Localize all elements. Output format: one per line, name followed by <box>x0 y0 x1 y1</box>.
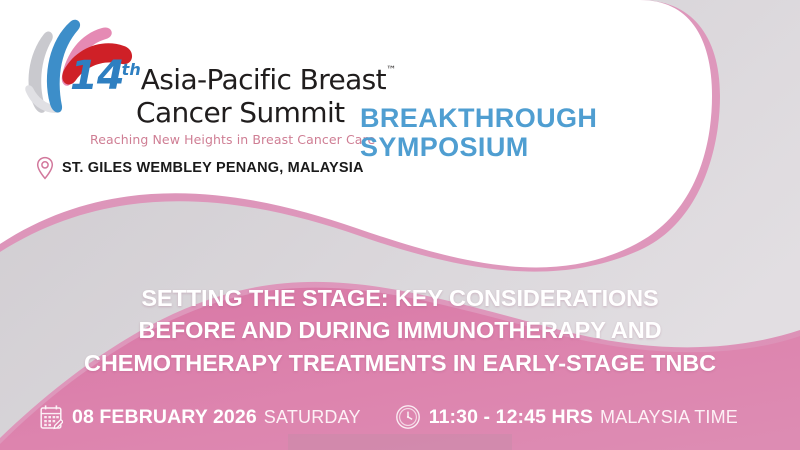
session-title-line-2: BEFORE AND DURING IMMUNOTHERAPY AND <box>0 314 800 346</box>
kicker-line-1: BREAKTHROUGH <box>360 104 597 133</box>
session-weekday: SATURDAY <box>264 407 361 428</box>
calendar-icon <box>38 403 64 431</box>
symposium-kicker: BREAKTHROUGH SYMPOSIUM <box>360 104 597 162</box>
trademark-symbol: ™ <box>386 65 396 76</box>
date-group: 08 FEBRUARY 2026 SATURDAY <box>38 403 361 431</box>
logo-tagline: Reaching New Heights in Breast Cancer Ca… <box>90 132 375 147</box>
session-title: SETTING THE STAGE: KEY CONSIDERATIONS BE… <box>0 282 800 379</box>
session-title-line-3: CHEMOTHERAPY TREATMENTS IN EARLY-STAGE T… <box>0 347 800 379</box>
clock-icon <box>395 403 421 431</box>
logo-name-line1: Asia-Pacific Breast <box>141 63 386 96</box>
logo-name-line2: Cancer Summit <box>136 96 345 129</box>
logo-edition-number: 14 <box>70 53 124 99</box>
session-title-line-1: SETTING THE STAGE: KEY CONSIDERATIONS <box>0 282 800 314</box>
event-logo: 14thAsia-Pacific Breast™ Cancer Summit R… <box>18 14 358 174</box>
logo-wordmark: 14thAsia-Pacific Breast™ <box>70 56 370 96</box>
event-poster: 14thAsia-Pacific Breast™ Cancer Summit R… <box>0 0 800 450</box>
venue-row: ST. GILES WEMBLEY PENANG, MALAYSIA <box>36 156 364 180</box>
logo-edition-suffix: th <box>122 60 141 79</box>
kicker-line-2: SYMPOSIUM <box>360 133 597 162</box>
bottom-center-strip <box>288 434 512 450</box>
session-timezone: MALAYSIA TIME <box>600 407 738 428</box>
session-time: 11:30 - 12:45 HRS <box>429 406 593 429</box>
session-meta: 08 FEBRUARY 2026 SATURDAY 11:30 - 12:45 … <box>38 403 738 431</box>
venue-label: ST. GILES WEMBLEY PENANG, MALAYSIA <box>62 160 364 176</box>
session-date: 08 FEBRUARY 2026 <box>72 406 257 429</box>
location-pin-icon <box>36 156 54 180</box>
time-group: 11:30 - 12:45 HRS MALAYSIA TIME <box>395 403 738 431</box>
